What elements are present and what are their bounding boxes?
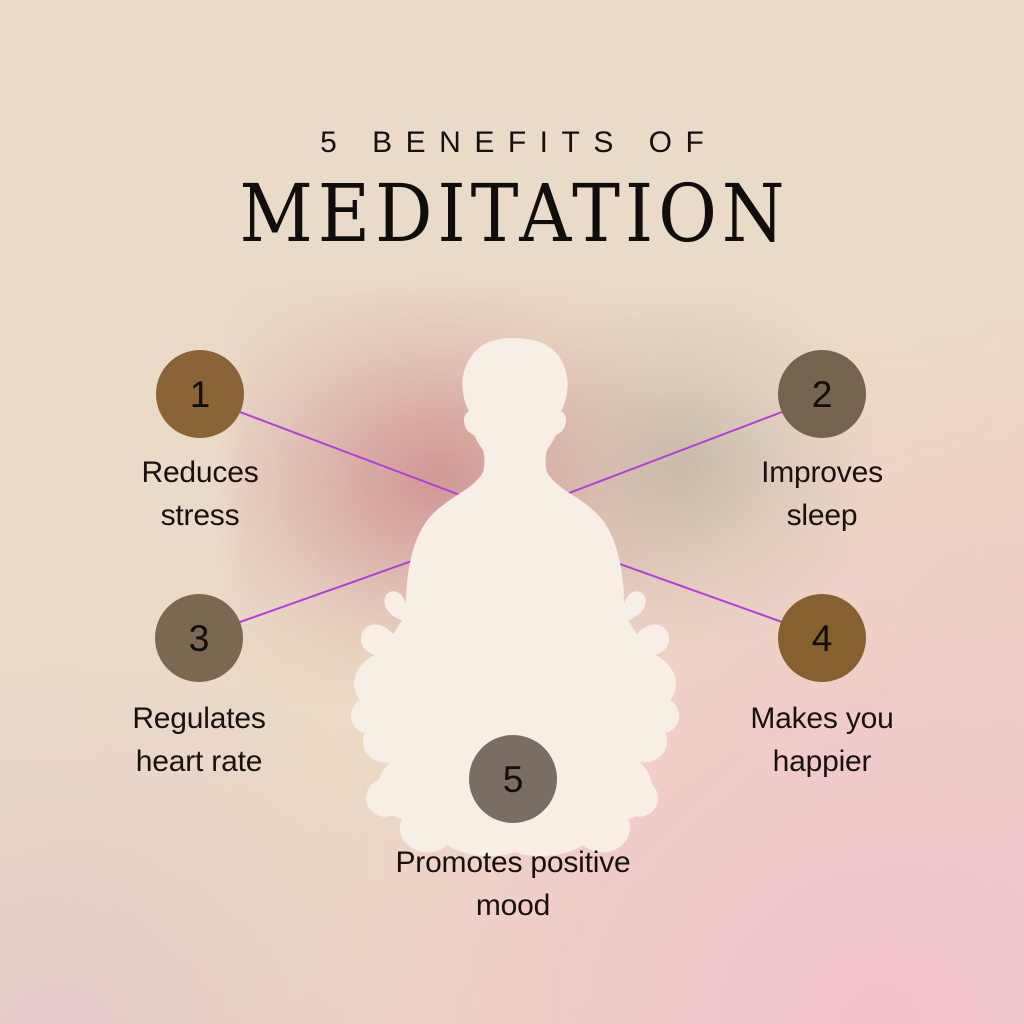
benefit-label-line2-4: happier: [702, 741, 942, 784]
benefit-label-5: Promotes positivemood: [333, 842, 693, 927]
meditation-benefits-infographic: 5 BENEFITS OF MEDITATION 1Reducesstress2…: [0, 0, 1024, 1024]
benefit-circle-3[interactable]: 3: [155, 594, 243, 682]
benefit-circle-4[interactable]: 4: [778, 594, 866, 682]
benefit-number-2: 2: [812, 376, 833, 413]
benefit-number-1: 1: [190, 376, 211, 413]
benefit-circle-2[interactable]: 2: [778, 350, 866, 438]
benefit-label-line1-1: Reduces: [80, 452, 320, 495]
benefit-label-line1-2: Improves: [702, 452, 942, 495]
benefit-label-1: Reducesstress: [80, 452, 320, 537]
benefit-label-line1-4: Makes you: [702, 698, 942, 741]
benefit-label-line2-3: heart rate: [79, 741, 319, 784]
benefit-number-5: 5: [503, 761, 524, 798]
benefit-label-line2-2: sleep: [702, 495, 942, 538]
benefit-label-3: Regulatesheart rate: [79, 698, 319, 783]
benefit-label-line2-1: stress: [80, 495, 320, 538]
benefit-label-line1-5: Promotes positive: [333, 842, 693, 885]
benefit-number-3: 3: [189, 620, 210, 657]
benefit-number-4: 4: [812, 620, 833, 657]
benefit-label-line2-5: mood: [333, 885, 693, 928]
benefit-circle-1[interactable]: 1: [156, 350, 244, 438]
benefit-label-line1-3: Regulates: [79, 698, 319, 741]
benefit-label-2: Improvessleep: [702, 452, 942, 537]
benefit-circle-5[interactable]: 5: [469, 735, 557, 823]
benefit-label-4: Makes youhappier: [702, 698, 942, 783]
